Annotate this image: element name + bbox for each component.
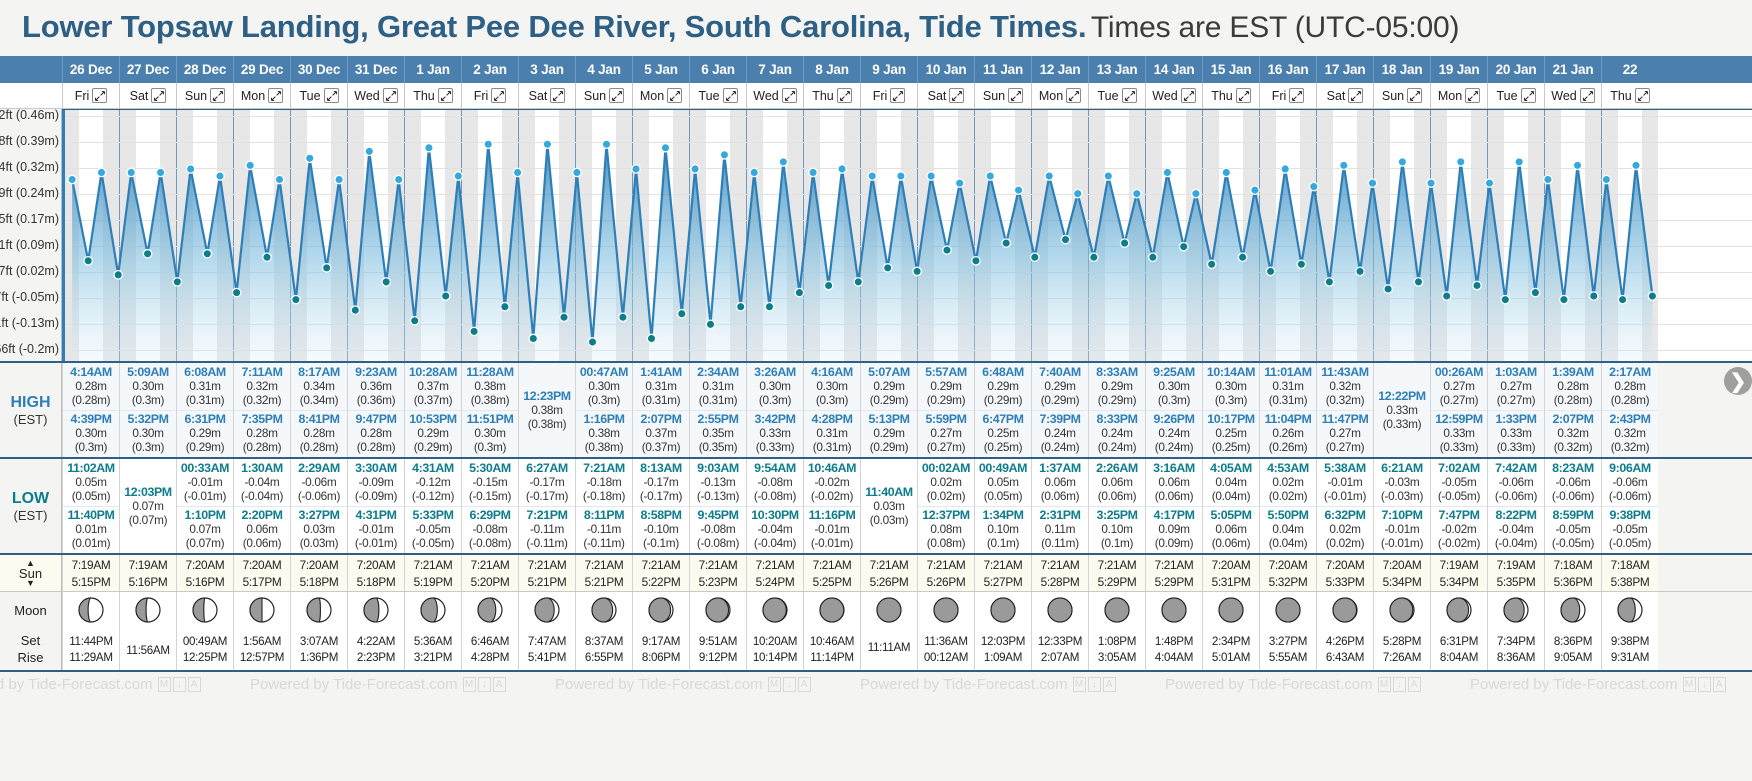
tide-event-time: 6:21AM: [1374, 461, 1430, 475]
tide-event-height-alt: (0.38m): [519, 417, 575, 431]
tide-event: 2:55PM0.35m(0.35m): [690, 410, 746, 458]
tide-event-time: 10:53PM: [405, 412, 461, 426]
moon-setrise-label: Set Rise: [0, 628, 62, 670]
moon-setrise-section: Set Rise 11:44PM11:29AM11:56AM00:49AM12:…: [0, 628, 1752, 672]
moon-setrise-column: 11:44PM11:29AM: [62, 628, 119, 670]
day-of-week-cell: Sun: [575, 83, 632, 108]
sunset-time: 5:16PM: [186, 575, 225, 589]
tide-event-height-alt: (0.3m): [804, 393, 860, 407]
tide-column: 6:48AM0.29m(0.29m)6:47PM0.25m(0.25m): [974, 363, 1031, 457]
tide-column: 5:57AM0.29m(0.29m)5:59PM0.27m(0.27m): [917, 363, 974, 457]
tide-event-height-alt: (0.34m): [291, 393, 347, 407]
sunset-time: 5:24PM: [756, 575, 795, 589]
sunrise-time: 7:21AM: [585, 558, 624, 572]
moonset-label-text: Set: [21, 633, 41, 648]
expand-day-icon[interactable]: [837, 88, 852, 103]
tide-event-height: 0.30m: [804, 379, 860, 393]
tide-event: 00:33AM-0.01m(-0.01m): [177, 459, 233, 506]
tide-column: 4:31AM-0.12m(-0.12m)5:33PM-0.05m(-0.05m): [404, 459, 461, 553]
tide-event-height-alt: (-0.17m): [519, 489, 575, 503]
tide-event-height-alt: (-0.03m): [1374, 489, 1430, 503]
tide-event-time: 7:40AM: [1032, 365, 1088, 379]
date-header-cell[interactable]: 22: [1601, 56, 1658, 83]
sun-column: 7:21AM5:19PM: [404, 555, 461, 591]
expand-day-icon[interactable]: [1181, 88, 1196, 103]
expand-day-icon[interactable]: [1066, 88, 1081, 103]
sun-column: 7:20AM5:16PM: [176, 555, 233, 591]
date-header-cell[interactable]: 18 Jan: [1373, 56, 1430, 83]
sunrise-time: 7:18AM: [1554, 558, 1593, 572]
sun-column: 7:19AM5:35PM: [1487, 555, 1544, 591]
tide-event-height: -0.01m: [1374, 522, 1430, 536]
tide-event-height-alt: (0.29m): [177, 440, 233, 454]
sunrise-time: 7:20AM: [357, 558, 396, 572]
chart-plot-area[interactable]: [62, 109, 1752, 361]
y-axis-tick-label: 0.55ft (0.17m): [0, 212, 59, 226]
sunset-time: 5:26PM: [927, 575, 966, 589]
tide-event-height-alt: (0.02m): [1260, 489, 1316, 503]
expand-day-icon[interactable]: [210, 88, 225, 103]
tide-event: 11:01AM0.31m(0.31m): [1260, 363, 1316, 410]
moon-column: [1373, 592, 1430, 628]
tide-event-time: 4:31AM: [405, 461, 461, 475]
tide-event-height: 0.29m: [975, 379, 1031, 393]
moonrise-time: 8:04AM: [1440, 651, 1478, 664]
date-header-cell[interactable]: 21 Jan: [1544, 56, 1601, 83]
moon-phase-icon: [362, 596, 390, 624]
tide-column: 4:53AM0.02m(0.02m)5:50PM0.04m(0.04m): [1259, 459, 1316, 553]
sunset-time: 5:15PM: [72, 575, 111, 589]
expand-day-icon[interactable]: [723, 88, 738, 103]
tide-event-time: 6:31PM: [177, 412, 233, 426]
tide-event-time: 2:43PM: [1602, 412, 1658, 426]
expand-day-icon[interactable]: [1580, 88, 1595, 103]
tide-event: 11:04PM0.26m(0.26m): [1260, 410, 1316, 458]
tide-event: 6:47PM0.25m(0.25m): [975, 410, 1031, 458]
tide-event-height: -0.04m: [234, 475, 290, 489]
tide-event-height-alt: (-0.04m): [1488, 536, 1544, 550]
tide-event-height-alt: (-0.08m): [747, 489, 803, 503]
tide-event-height: -0.05m: [1545, 522, 1601, 536]
moonset-time: 10:46AM: [810, 635, 854, 648]
moonset-time: 6:31PM: [1440, 635, 1478, 648]
date-header-cell[interactable]: 11 Jan: [974, 56, 1031, 83]
tide-event-height-alt: (0.29m): [975, 393, 1031, 407]
tide-event-time: 8:17AM: [291, 365, 347, 379]
sunrise-time: 7:20AM: [1269, 558, 1308, 572]
date-header-cell[interactable]: 19 Jan: [1430, 56, 1487, 83]
tide-event-height-alt: (-0.02m): [804, 489, 860, 503]
sun-column: 7:20AM5:32PM: [1259, 555, 1316, 591]
date-header-cell[interactable]: 26 Dec: [62, 56, 119, 83]
sunrise-time: 7:20AM: [1212, 558, 1251, 572]
tide-event: 8:59PM-0.05m(-0.05m): [1545, 506, 1601, 554]
moon-phase-icon: [1616, 596, 1644, 624]
tide-event: 2:20PM0.06m(0.06m): [234, 506, 290, 554]
tide-event-height-alt: (0.06m): [1089, 489, 1145, 503]
sun-column: 7:18AM5:38PM: [1601, 555, 1658, 591]
tide-event-time: 6:29PM: [462, 508, 518, 522]
sun-column: 7:21AM5:26PM: [860, 555, 917, 591]
footer-watermark-icon: ↓: [783, 677, 796, 692]
day-of-week-cell: Sun: [1373, 83, 1430, 108]
tide-event-height-alt: (0.29m): [918, 393, 974, 407]
tide-forecast-page: Lower Topsaw Landing, Great Pee Dee Rive…: [0, 0, 1752, 781]
tide-event-height-alt: (0.3m): [1203, 393, 1259, 407]
tide-event-height-alt: (0.28m): [234, 440, 290, 454]
sunrise-time: 7:21AM: [1155, 558, 1194, 572]
tide-event: 6:48AM0.29m(0.29m): [975, 363, 1031, 410]
tide-event: 1:10PM0.07m(0.07m): [177, 506, 233, 554]
tide-event-height-alt: (0.07m): [177, 536, 233, 550]
tide-event-height: -0.08m: [690, 522, 746, 536]
moon-column: [1487, 592, 1544, 628]
tide-event-height-alt: (0.08m): [918, 536, 974, 550]
moon-phase-icon: [1388, 596, 1416, 624]
tide-event-height-alt: (0.29m): [405, 440, 461, 454]
moonset-time: 8:36PM: [1554, 635, 1592, 648]
tide-event-height: 0.08m: [918, 522, 974, 536]
tide-event-height: -0.01m: [348, 522, 404, 536]
moon-setrise-column: 1:08PM3:05AM: [1088, 628, 1145, 670]
day-of-week-label: Sat: [928, 89, 947, 103]
day-of-week-row: FriSatSunMonTueWedThuFriSatSunMonTueWedT…: [0, 83, 1752, 109]
tide-event-time: 9:23AM: [348, 365, 404, 379]
tide-event: 7:47PM-0.02m(-0.02m): [1431, 506, 1487, 554]
moon-label: Moon: [0, 592, 62, 628]
moon-setrise-column: 2:34PM5:01AM: [1202, 628, 1259, 670]
tide-event: 1:34PM0.10m(0.1m): [975, 506, 1031, 554]
tide-curve: [62, 110, 1752, 361]
expand-day-icon[interactable]: [1521, 88, 1536, 103]
tide-event-time: 11:47PM: [1317, 412, 1373, 426]
high-tide-label-text: HIGH: [11, 394, 51, 412]
tide-event: 1:33PM0.33m(0.33m): [1488, 410, 1544, 458]
expand-day-icon[interactable]: [1236, 88, 1251, 103]
date-header-cell[interactable]: 1 Jan: [404, 56, 461, 83]
moon-setrise-column: 11:56AM: [119, 628, 176, 670]
tide-event-height-alt: (0.27m): [1431, 393, 1487, 407]
expand-day-icon[interactable]: [1635, 88, 1650, 103]
moon-phase-icon: [533, 596, 561, 624]
footer-watermark: Powered by Tide-Forecast.comM↓A: [555, 676, 811, 693]
date-header-cell[interactable]: 5 Jan: [632, 56, 689, 83]
tide-event-height: 0.32m: [1545, 426, 1601, 440]
sunrise-time: 7:19AM: [1497, 558, 1536, 572]
tide-event-height-alt: (-0.01m): [177, 489, 233, 503]
sun-column: 7:21AM5:25PM: [803, 555, 860, 591]
expand-day-icon[interactable]: [1122, 88, 1137, 103]
expand-day-icon[interactable]: [268, 88, 283, 103]
footer-watermark-icon: ↓: [1698, 677, 1711, 692]
sunset-time: 5:19PM: [414, 575, 453, 589]
date-header-cell[interactable]: 29 Dec: [233, 56, 290, 83]
moonrise-label-text: Rise: [17, 650, 43, 665]
expand-day-icon[interactable]: [949, 88, 964, 103]
date-header-cell[interactable]: 16 Jan: [1259, 56, 1316, 83]
tide-event: 11:47PM0.27m(0.27m): [1317, 410, 1373, 458]
moonrise-time: 8:06PM: [642, 651, 680, 664]
tide-event-height: 0.29m: [177, 426, 233, 440]
moon-column: [632, 592, 689, 628]
date-header-cell[interactable]: 10 Jan: [917, 56, 974, 83]
tide-column: 9:03AM-0.13m(-0.13m)9:45PM-0.08m(-0.08m): [689, 459, 746, 553]
tide-event-time: 4:53AM: [1260, 461, 1316, 475]
moon-phase-icon: [1046, 596, 1074, 624]
sunrise-time: 7:18AM: [1611, 558, 1650, 572]
tide-event-time: 9:54AM: [747, 461, 803, 475]
tide-event-height: -0.06m: [1545, 475, 1601, 489]
moon-column: [461, 592, 518, 628]
date-header-cell[interactable]: 30 Dec: [290, 56, 347, 83]
tide-column: 10:28AM0.37m(0.37m)10:53PM0.29m(0.29m): [404, 363, 461, 457]
tide-event: 4:17PM0.09m(0.09m): [1146, 506, 1202, 554]
tide-event: 2:07PM0.32m(0.32m): [1545, 410, 1601, 458]
tide-event: 4:39PM0.30m(0.3m): [63, 410, 119, 458]
tide-event-time: 00:47AM: [576, 365, 632, 379]
high-tide-tz: (EST): [14, 412, 48, 427]
tide-event-height-alt: (0.09m): [1146, 536, 1202, 550]
date-header-cell[interactable]: 15 Jan: [1202, 56, 1259, 83]
tide-event-height: -0.12m: [405, 475, 461, 489]
tide-event-height-alt: (0.06m): [1146, 489, 1202, 503]
tide-event-time: 12:03PM: [120, 485, 176, 499]
tide-column: 1:30AM-0.04m(-0.04m)2:20PM0.06m(0.06m): [233, 459, 290, 553]
moon-setrise-column: 8:36PM9:05AM: [1544, 628, 1601, 670]
moon-column: [575, 592, 632, 628]
expand-day-icon[interactable]: [667, 88, 682, 103]
tide-event-height: -0.15m: [462, 475, 518, 489]
moon-phase-icon: [1274, 596, 1302, 624]
tide-event-height-alt: (0.29m): [1032, 393, 1088, 407]
date-header-cell[interactable]: 2 Jan: [461, 56, 518, 83]
tide-event-height: 0.35m: [690, 426, 746, 440]
tide-event-time: 00:26AM: [1431, 365, 1487, 379]
next-period-button[interactable]: ❯: [1724, 367, 1752, 395]
tide-event-height: 0.31m: [633, 379, 689, 393]
tide-event: 4:28PM0.31m(0.31m): [804, 410, 860, 458]
moonrise-time: 2:07AM: [1041, 651, 1079, 664]
moon-phase-icon: [191, 596, 219, 624]
moonrise-time: 6:55PM: [585, 651, 623, 664]
expand-day-icon[interactable]: [1008, 88, 1023, 103]
date-header-cell[interactable]: 4 Jan: [575, 56, 632, 83]
moon-setrise-column: 10:46AM11:14PM: [803, 628, 860, 670]
tide-event-height: 0.33m: [1488, 426, 1544, 440]
tide-event: 8:23AM-0.06m(-0.06m): [1545, 459, 1601, 506]
moon-column: [62, 592, 119, 628]
moon-column: [233, 592, 290, 628]
moonrise-time: 8:36AM: [1497, 651, 1535, 664]
tide-event: 5:07AM0.29m(0.29m): [861, 363, 917, 410]
moonset-time: 1:08PM: [1098, 635, 1136, 648]
tide-event-height-alt: (-0.08m): [462, 536, 518, 550]
tide-event-height: -0.08m: [462, 522, 518, 536]
sunrise-time: 7:21AM: [870, 558, 909, 572]
expand-day-icon[interactable]: [92, 88, 107, 103]
date-header-cell[interactable]: 9 Jan: [860, 56, 917, 83]
tide-event-time: 12:22PM: [1374, 389, 1430, 403]
tide-event-height: -0.06m: [1602, 475, 1658, 489]
expand-day-icon[interactable]: [782, 88, 797, 103]
tide-event: 8:33PM0.24m(0.24m): [1089, 410, 1145, 458]
tide-event-height-alt: (0.32m): [1602, 440, 1658, 454]
moonset-time: 5:36AM: [414, 635, 452, 648]
moonrise-time: 5:55AM: [1269, 651, 1307, 664]
tide-event-height-alt: (-0.05m): [1431, 489, 1487, 503]
sunset-time: 5:26PM: [870, 575, 909, 589]
footer-watermark-icon: A: [1713, 677, 1726, 692]
expand-day-icon[interactable]: [1407, 88, 1422, 103]
tide-column: 00:33AM-0.01m(-0.01m)1:10PM0.07m(0.07m): [176, 459, 233, 553]
tide-event-height: -0.01m: [1317, 475, 1373, 489]
y-axis-tick-label: 1.52ft (0.46m): [0, 108, 59, 122]
tide-event-height-alt: (0.24m): [1089, 440, 1145, 454]
expand-day-icon[interactable]: [550, 88, 565, 103]
expand-day-icon[interactable]: [383, 88, 398, 103]
expand-day-icon[interactable]: [609, 88, 624, 103]
expand-day-icon[interactable]: [491, 88, 506, 103]
tide-event-height: 0.38m: [576, 426, 632, 440]
expand-day-icon[interactable]: [890, 88, 905, 103]
sunrise-time: 7:21AM: [984, 558, 1023, 572]
moonrise-time: 00:12AM: [924, 651, 968, 664]
tide-event: 00:49AM0.05m(0.05m): [975, 459, 1031, 506]
tide-column: 12:22PM0.33m(0.33m): [1373, 363, 1430, 457]
tide-event: 6:29PM-0.08m(-0.08m): [462, 506, 518, 554]
tide-event-time: 3:16AM: [1146, 461, 1202, 475]
tide-event-height: 0.07m: [177, 522, 233, 536]
expand-day-icon[interactable]: [324, 88, 339, 103]
tide-event: 1:30AM-0.04m(-0.04m): [234, 459, 290, 506]
moon-column: [347, 592, 404, 628]
tide-column: 9:25AM0.30m(0.3m)9:26PM0.24m(0.24m): [1145, 363, 1202, 457]
footer-watermark-icon: A: [798, 677, 811, 692]
date-header-cell[interactable]: 8 Jan: [803, 56, 860, 83]
date-header-cell[interactable]: 14 Jan: [1145, 56, 1202, 83]
tide-event-height: 0.24m: [1146, 426, 1202, 440]
tide-event-time: 00:33AM: [177, 461, 233, 475]
tide-event-height: 0.10m: [975, 522, 1031, 536]
day-of-week-cell: Thu: [803, 83, 860, 108]
dow-spacer: [0, 83, 62, 108]
date-header-cell[interactable]: 27 Dec: [119, 56, 176, 83]
footer-watermark-icon: M: [1683, 677, 1696, 692]
tide-event: 9:54AM-0.08m(-0.08m): [747, 459, 803, 506]
date-header-cell[interactable]: 17 Jan: [1316, 56, 1373, 83]
sun-column: 7:21AM5:22PM: [632, 555, 689, 591]
tide-event-time: 3:30AM: [348, 461, 404, 475]
day-of-week-cell: Sat: [518, 83, 575, 108]
moonrise-time: 3:21PM: [414, 651, 452, 664]
y-axis-tick-label: -0.41ft (-0.13m): [0, 316, 59, 330]
sunrise-time: 7:20AM: [300, 558, 339, 572]
tide-event-height: 0.28m: [348, 426, 404, 440]
expand-day-icon[interactable]: [1348, 88, 1363, 103]
expand-day-icon[interactable]: [151, 88, 166, 103]
expand-day-icon[interactable]: [1289, 88, 1304, 103]
tide-event: 11:02AM0.05m(0.05m): [63, 459, 119, 506]
sunset-time: 5:33PM: [1326, 575, 1365, 589]
date-header-cell[interactable]: 31 Dec: [347, 56, 404, 83]
tide-column: 9:23AM0.36m(0.36m)9:47PM0.28m(0.28m): [347, 363, 404, 457]
date-header-cell[interactable]: 20 Jan: [1487, 56, 1544, 83]
tide-event-time: 4:16AM: [804, 365, 860, 379]
tide-column: 9:54AM-0.08m(-0.08m)10:30PM-0.04m(-0.04m…: [746, 459, 803, 553]
sunset-time: 5:17PM: [243, 575, 282, 589]
sunset-time: 5:38PM: [1611, 575, 1650, 589]
tide-event: 9:38PM-0.05m(-0.05m): [1602, 506, 1658, 554]
tide-event: 9:23AM0.36m(0.36m): [348, 363, 404, 410]
tide-event-height-alt: (0.03m): [291, 536, 347, 550]
day-of-week-label: Thu: [812, 89, 834, 103]
day-of-week-label: Sun: [1382, 89, 1404, 103]
sunset-time: 5:29PM: [1155, 575, 1194, 589]
tide-event-time: 12:37PM: [918, 508, 974, 522]
moon-phase-icon: [590, 596, 618, 624]
tide-event-height-alt: (0.28m): [63, 393, 119, 407]
day-of-week-label: Sat: [529, 89, 548, 103]
tide-event-height-alt: (0.31m): [690, 393, 746, 407]
moon-setrise-column: 5:28PM7:26AM: [1373, 628, 1430, 670]
moon-column: [689, 592, 746, 628]
expand-day-icon[interactable]: [1465, 88, 1480, 103]
tide-event: 3:42PM0.33m(0.33m): [747, 410, 803, 458]
tide-event-height-alt: (0.32m): [234, 393, 290, 407]
date-header-cell[interactable]: 3 Jan: [518, 56, 575, 83]
moonrise-time: 12:25PM: [183, 651, 227, 664]
tide-event: 7:11AM0.32m(0.32m): [234, 363, 290, 410]
moon-setrise-column: 6:46AM4:28PM: [461, 628, 518, 670]
tide-event-time: 7:21PM: [519, 508, 575, 522]
footer-watermark-icon: M: [1378, 677, 1391, 692]
footer-watermark-icons: M↓A: [768, 677, 811, 692]
tide-event-height: 0.33m: [1431, 426, 1487, 440]
tide-event-height-alt: (-0.15m): [462, 489, 518, 503]
tide-event-time: 10:30PM: [747, 508, 803, 522]
moon-column: [1544, 592, 1601, 628]
tide-event-height-alt: (0.1m): [1089, 536, 1145, 550]
tide-event-time: 11:01AM: [1260, 365, 1316, 379]
date-header-cell[interactable]: 13 Jan: [1088, 56, 1145, 83]
footer-watermark: Powered by Tide-Forecast.comM↓A: [250, 676, 506, 693]
date-header-cell[interactable]: 28 Dec: [176, 56, 233, 83]
date-header-cell[interactable]: 12 Jan: [1031, 56, 1088, 83]
tide-event: 2:17AM0.28m(0.28m): [1602, 363, 1658, 410]
tide-event-time: 11:16PM: [804, 508, 860, 522]
tide-event-height-alt: (0.26m): [1260, 440, 1316, 454]
moon-phase-icon: [1331, 596, 1359, 624]
day-of-week-cell: Fri: [860, 83, 917, 108]
tide-event-height: 0.28m: [1602, 379, 1658, 393]
expand-day-icon[interactable]: [438, 88, 453, 103]
tide-event-height-alt: (0.02m): [918, 489, 974, 503]
tide-event: 2:31PM0.11m(0.11m): [1032, 506, 1088, 554]
tide-column: 1:41AM0.31m(0.31m)2:07PM0.37m(0.37m): [632, 363, 689, 457]
date-header-cell[interactable]: 6 Jan: [689, 56, 746, 83]
tide-event: 1:41AM0.31m(0.31m): [633, 363, 689, 410]
moonset-time: 5:28PM: [1383, 635, 1421, 648]
tide-event-time: 00:02AM: [918, 461, 974, 475]
tide-event-time: 1:34PM: [975, 508, 1031, 522]
tide-event-time: 7:35PM: [234, 412, 290, 426]
footer-watermark-icon: M: [1073, 677, 1086, 692]
tide-event-height-alt: (-0.06m): [1488, 489, 1544, 503]
tide-column: 7:42AM-0.06m(-0.06m)8:22PM-0.04m(-0.04m): [1487, 459, 1544, 553]
tide-event: 2:29AM-0.06m(-0.06m): [291, 459, 347, 506]
moon-phase-icon: [1559, 596, 1587, 624]
date-header-cell[interactable]: 7 Jan: [746, 56, 803, 83]
